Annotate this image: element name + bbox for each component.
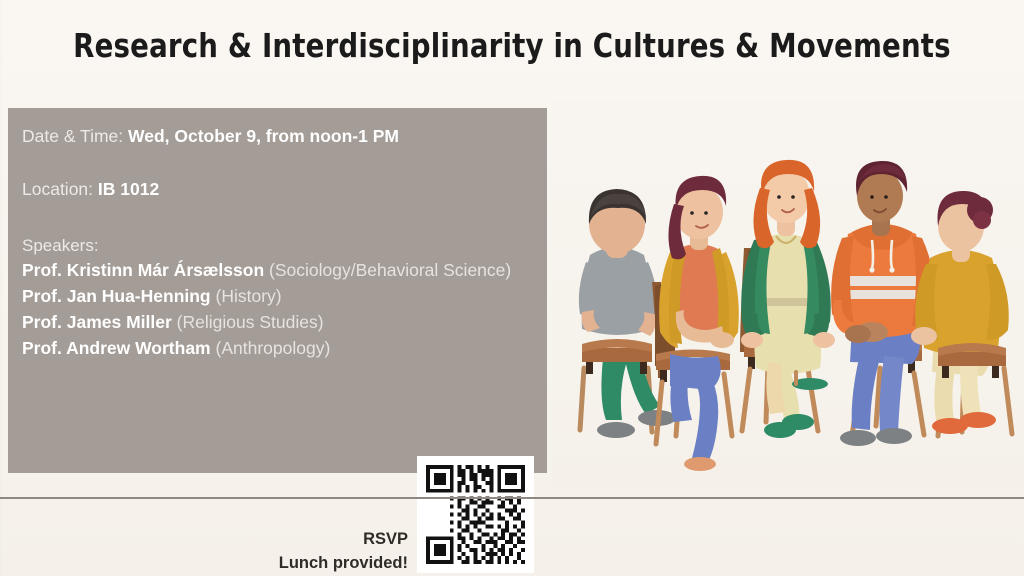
speaker-name: Prof. Andrew Wortham xyxy=(22,338,211,358)
speaker-item: Prof. Jan Hua-Henning (History) xyxy=(22,284,534,310)
speaker-item: Prof. Kristinn Már Ársælsson (Sociology/… xyxy=(22,258,534,284)
speaker-name: Prof. James Miller xyxy=(22,312,172,332)
location-label: Location: xyxy=(22,179,93,199)
speaker-item: Prof. James Miller (Religious Studies) xyxy=(22,310,534,336)
speaker-name: Prof. Jan Hua-Henning xyxy=(22,286,211,306)
location-row: Location: IB 1012 xyxy=(22,181,159,199)
page-title-text: Research & Interdisciplinarity in Cultur… xyxy=(36,26,988,65)
page-title: Research & Interdisciplinarity in Cultur… xyxy=(0,26,1024,65)
footer: DUKE KUNSHAN Division of Social Sciences… xyxy=(0,499,1024,576)
slide-canvas: Research & Interdisciplinarity in Cultur… xyxy=(0,0,1024,576)
speaker-item: Prof. Andrew Wortham (Anthropology) xyxy=(22,336,534,362)
speakers-block: Speakers: Prof. Kristinn Már Ársælsson (… xyxy=(22,235,534,362)
discussion-circle-scene xyxy=(552,100,1024,490)
speaker-department: (Sociology/Behavioral Science) xyxy=(269,260,511,280)
speaker-department: (History) xyxy=(216,286,282,306)
speaker-department: (Religious Studies) xyxy=(177,312,324,332)
date-time-value: Wed, October 9, from noon-1 PM xyxy=(128,126,399,146)
speakers-label: Speakers: xyxy=(22,235,534,258)
location-value: IB 1012 xyxy=(98,179,159,199)
event-info-panel: Date & Time: Wed, October 9, from noon-1… xyxy=(8,108,547,473)
speaker-name: Prof. Kristinn Már Ársælsson xyxy=(22,260,264,280)
date-time-label: Date & Time: xyxy=(22,126,123,146)
date-time-row: Date & Time: Wed, October 9, from noon-1… xyxy=(22,128,399,146)
speaker-department: (Anthropology) xyxy=(216,338,331,358)
faculty-panel-discussion-illustration xyxy=(552,100,1024,490)
